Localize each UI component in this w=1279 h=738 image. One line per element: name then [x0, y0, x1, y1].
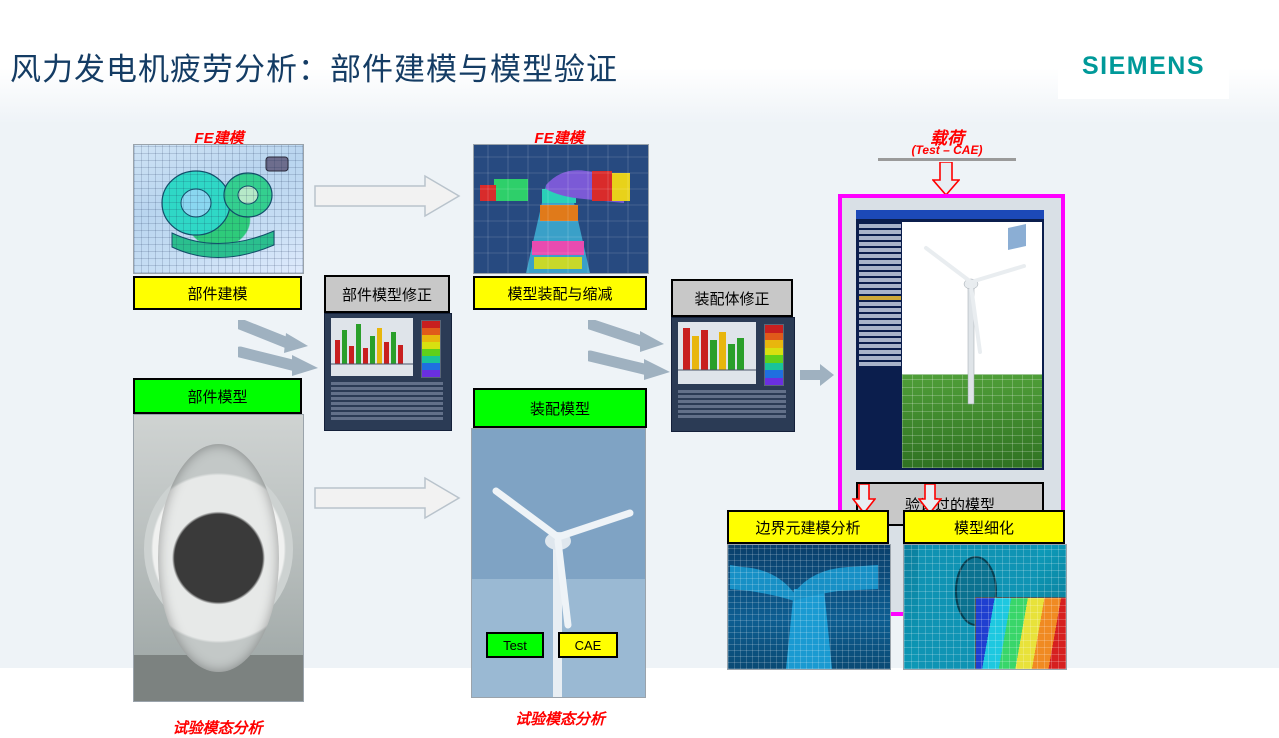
box-bem-modeling-analysis-label: 边界元建模分析: [755, 517, 860, 538]
page-header: 风力发电机疲劳分析：部件建模与模型验证 SIEMENS: [0, 0, 1279, 124]
box-component-modeling-label: 部件建模: [187, 283, 247, 304]
box-bem-modeling-analysis[interactable]: 边界元建模分析: [727, 510, 889, 544]
section-title-loads-sub: (Test – CAE): [880, 143, 1014, 157]
contour-inset: [975, 597, 1067, 670]
arrow-fe-left-to-mid: [313, 174, 461, 218]
box-model-refinement-label: 模型细化: [954, 517, 1014, 538]
caption-experimental-modal-analysis-left: 试验模态分析: [133, 717, 302, 738]
sim-window-titlebar: [856, 210, 1044, 219]
component-modal-chart-panel: [324, 313, 452, 431]
sim-model-tree: [858, 222, 902, 466]
caption-experimental-modal-analysis-mid: 试验模态分析: [473, 708, 647, 729]
box-model-refinement[interactable]: 模型细化: [903, 510, 1065, 544]
arrow-update-to-validated: [800, 362, 836, 388]
box-model-assembly-reduction[interactable]: 模型装配与缩减: [473, 276, 647, 310]
arrow-component-to-update-2: [238, 346, 322, 376]
box-component-model-label: 部件模型: [187, 386, 247, 407]
simulation-screenshot: [856, 210, 1044, 470]
box-component-model[interactable]: 部件模型: [133, 378, 302, 414]
sim-3d-view: [902, 222, 1042, 468]
siemens-logo: SIEMENS: [1058, 33, 1229, 99]
box-component-model-update[interactable]: 部件模型修正: [324, 275, 450, 313]
siemens-logo-text: SIEMENS: [1082, 52, 1205, 81]
legend-cae-chip: CAE: [558, 632, 618, 658]
refined-mesh-thumbnail: [903, 544, 1067, 670]
box-assembly-model[interactable]: 装配模型: [473, 388, 647, 428]
underline-right: [878, 158, 1016, 161]
arrow-loads-down: [932, 162, 960, 196]
legend-cae-label: CAE: [575, 638, 602, 653]
arrow-assembly-to-update-1: [588, 320, 668, 354]
diagram-canvas: FE建模 FE建模 载荷 (Test – CAE) 部件建模 部件模型: [0, 124, 1279, 668]
legend-test-chip: Test: [486, 632, 544, 658]
box-assembly-update[interactable]: 装配体修正: [671, 279, 793, 317]
box-component-modeling[interactable]: 部件建模: [133, 276, 302, 310]
fe-assembly-thumbnail: [473, 144, 649, 274]
bem-mesh-thumbnail: [727, 544, 891, 670]
legend: Test CAE: [486, 632, 618, 658]
page-title: 风力发电机疲劳分析：部件建模与模型验证: [10, 44, 618, 89]
box-component-model-update-label: 部件模型修正: [342, 284, 432, 305]
fe-gearbox-thumbnail: [133, 144, 304, 274]
box-assembly-model-label: 装配模型: [530, 398, 590, 419]
box-model-assembly-reduction-label: 模型装配与缩减: [507, 283, 612, 304]
test-housing-photo: [133, 414, 304, 702]
arrow-assembly-to-update-2: [588, 350, 674, 380]
legend-test-label: Test: [503, 638, 527, 653]
arrow-test-to-assembly: [313, 476, 461, 520]
assembly-modal-chart-panel: [671, 317, 795, 432]
box-assembly-update-label: 装配体修正: [694, 288, 769, 309]
